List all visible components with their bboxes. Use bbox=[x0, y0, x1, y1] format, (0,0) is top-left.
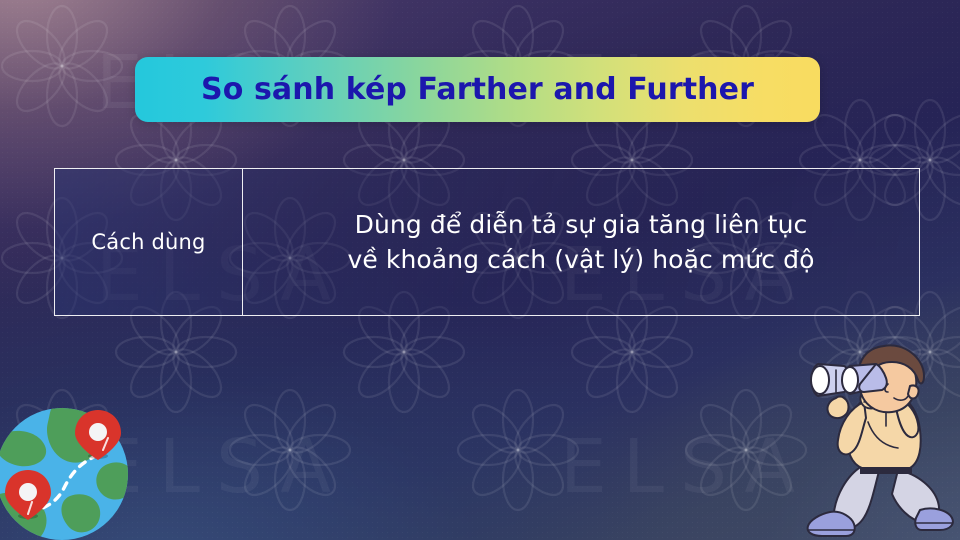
person-with-binoculars-icon bbox=[806, 342, 958, 540]
description-line-2: về khoảng cách (vật lý) hoặc mức độ bbox=[347, 245, 814, 274]
svg-text:ELSA: ELSA bbox=[560, 424, 811, 510]
binoculars bbox=[811, 364, 887, 396]
usage-table: Cách dùng Dùng để diễn tả sự gia tăng li… bbox=[54, 168, 920, 316]
usage-description-text: Dùng để diễn tả sự gia tăng liên tục về … bbox=[347, 207, 814, 278]
slide-canvas: ELSA ELSA ELSA ELSA ELSA ELSA So sánh ké… bbox=[0, 0, 960, 540]
table-cell-label: Cách dùng bbox=[55, 169, 243, 315]
usage-label-text: Cách dùng bbox=[91, 230, 205, 254]
page-title: So sánh kép Farther and Further bbox=[201, 72, 754, 107]
table-cell-description: Dùng để diễn tả sự gia tăng liên tục về … bbox=[243, 169, 919, 315]
slide-title-banner: So sánh kép Farther and Further bbox=[135, 57, 820, 122]
description-line-1: Dùng để diễn tả sự gia tăng liên tục bbox=[355, 210, 808, 239]
globe-with-route-pins-icon bbox=[0, 400, 140, 540]
